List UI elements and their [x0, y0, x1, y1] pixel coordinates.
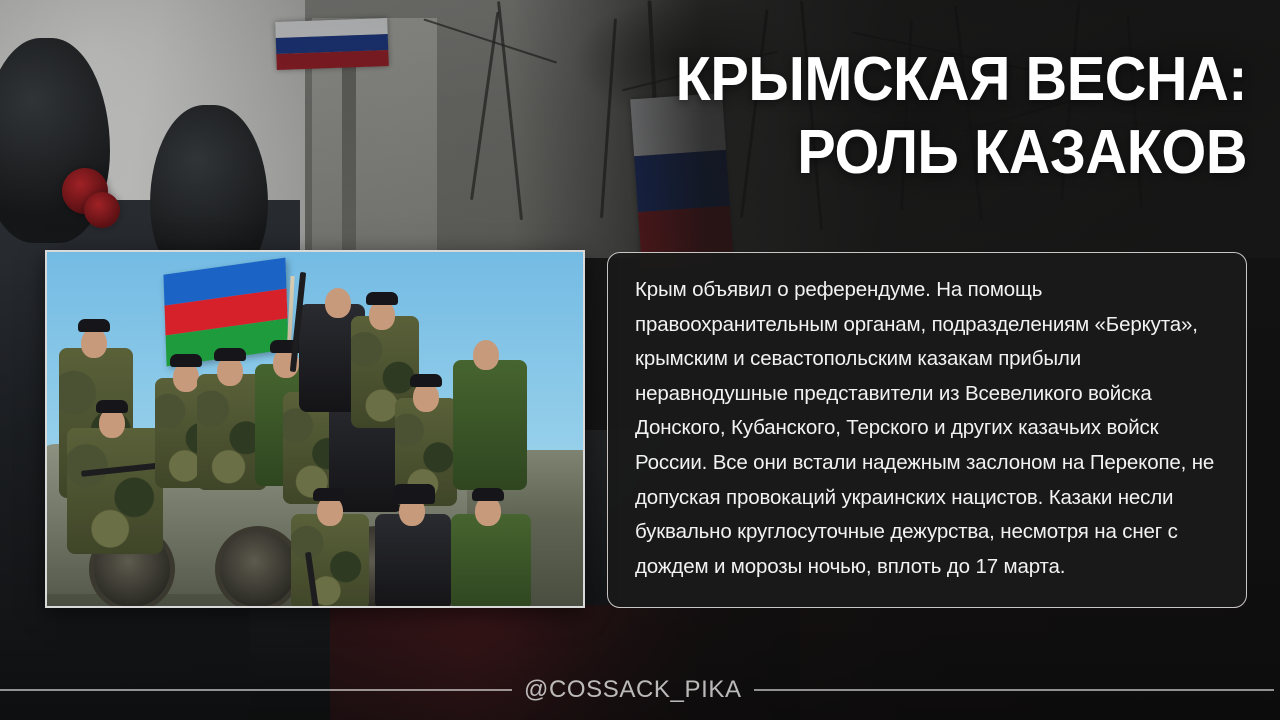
presentation-slide: КРЫМСКАЯ ВЕСНА: РОЛЬ КАЗАКОВ Крым объяви… [0, 0, 1280, 720]
watermark-text: @COSSACK_PIKA [512, 676, 754, 704]
body-text: Крым объявил о референдуме. На помощь пр… [635, 273, 1220, 584]
slide-title: КРЫМСКАЯ ВЕСНА: РОЛЬ КАЗАКОВ [577, 44, 1247, 189]
watermark-line-right [754, 689, 1274, 691]
watermark: @COSSACK_PIKA [0, 676, 1280, 704]
cossack-figure-2 [67, 428, 163, 554]
cossack-hat-10 [410, 374, 442, 387]
slide-title-line-1: КРЫМСКАЯ ВЕСНА: [577, 44, 1247, 117]
cossack-hat-3 [170, 354, 202, 367]
cossack-figure-12 [291, 514, 369, 608]
slide-title-line-2: РОЛЬ КАЗАКОВ [577, 117, 1247, 190]
cossack-head-11 [473, 340, 499, 370]
cossack-figure-11 [453, 360, 527, 490]
cossack-head-8 [325, 288, 351, 318]
cossack-hat-13 [393, 484, 435, 504]
cossack-head-1 [81, 328, 107, 358]
cossack-figure-13 [375, 514, 451, 608]
cossack-hat-9 [366, 292, 398, 305]
cossack-hat-14 [472, 488, 504, 501]
cossack-figure-14 [451, 514, 531, 608]
vehicle-wheel-2 [215, 526, 301, 608]
inset-photo-cossacks [45, 250, 585, 608]
cossack-hat-1 [78, 319, 110, 332]
watermark-line-left [0, 689, 512, 691]
cossack-hat-2 [96, 400, 128, 413]
body-text-card: Крым объявил о референдуме. На помощь пр… [607, 252, 1247, 608]
cossack-hat-4 [214, 348, 246, 361]
cossack-hat-12 [313, 488, 345, 501]
